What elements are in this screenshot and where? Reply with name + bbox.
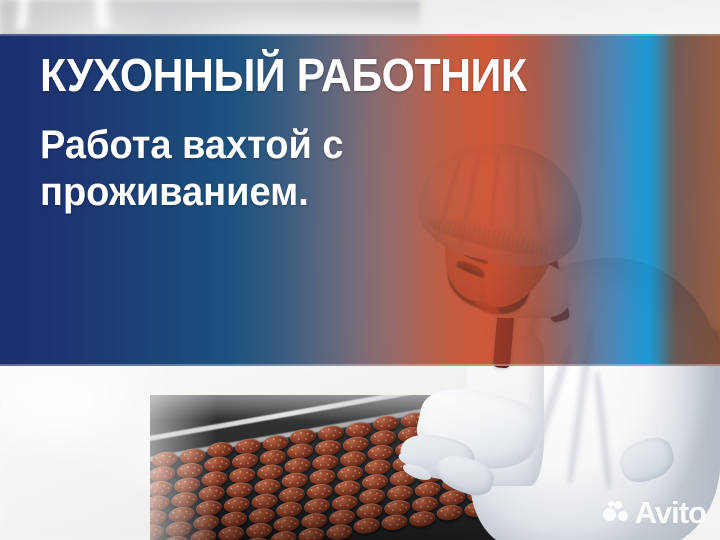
advertisement-banner: КУХОННЫЙ РАБОТНИК Работа вахтой с прожив… xyxy=(0,0,720,540)
ad-subheadline: Работа вахтой с проживанием. xyxy=(40,122,373,216)
ad-copy-block: КУХОННЫЙ РАБОТНИК Работа вахтой с прожив… xyxy=(40,52,600,216)
avito-watermark: Avito xyxy=(603,497,706,528)
chocolate-candy xyxy=(325,523,353,540)
chocolate-candy xyxy=(217,525,245,540)
avito-dots-icon xyxy=(603,501,628,525)
page-title: КУХОННЫЙ РАБОТНИК xyxy=(40,52,561,100)
band-top-edge xyxy=(0,34,720,36)
band-bottom-edge xyxy=(0,364,720,366)
avito-wordmark: Avito xyxy=(635,497,706,528)
